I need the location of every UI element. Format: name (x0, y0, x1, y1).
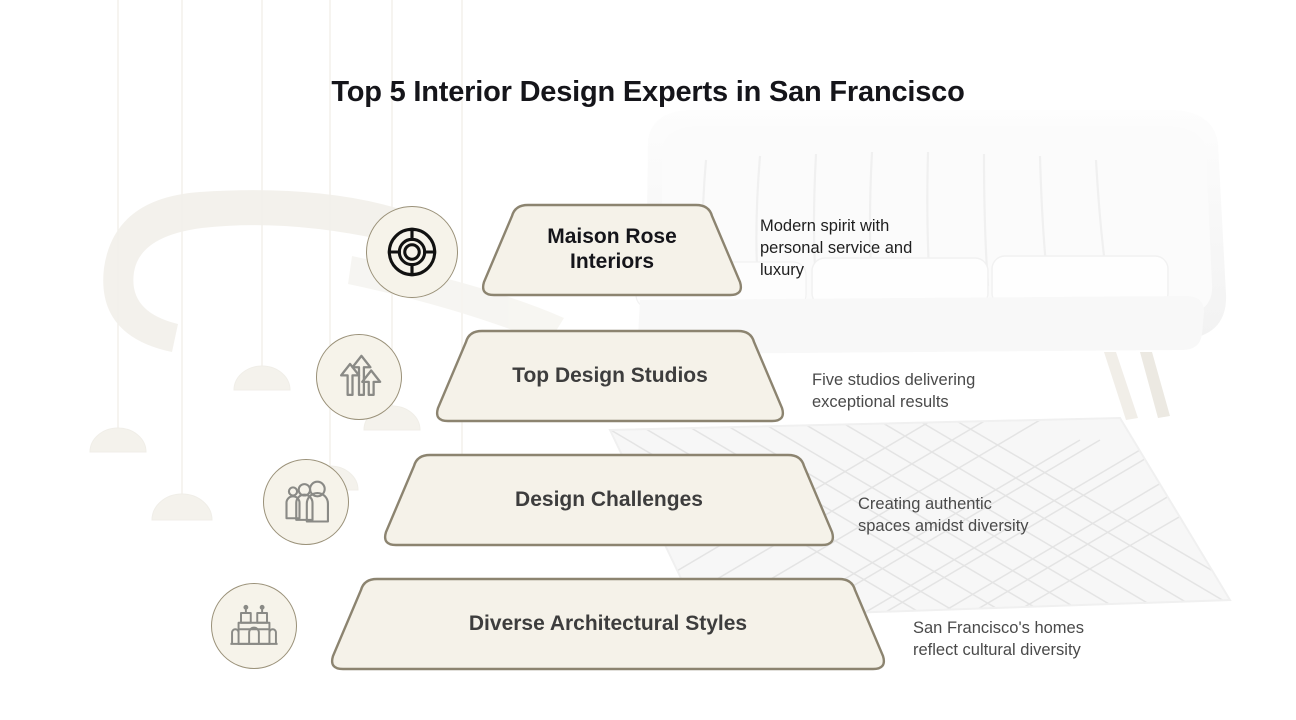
pyramid-level-1-label: Maison Rose Interiors (478, 202, 746, 298)
growth-arrows-icon (333, 351, 385, 403)
wheel-hub-icon (383, 223, 441, 281)
pyramid-level-2-icon-badge[interactable] (316, 334, 402, 420)
pyramid-level-2[interactable]: Top Design Studios (430, 328, 790, 424)
pyramid-level-4-label: Diverse Architectural Styles (325, 576, 891, 672)
pyramid-level-4-description: San Francisco's homes reflect cultural d… (913, 618, 1148, 662)
pyramid-level-1[interactable]: Maison Rose Interiors (478, 202, 746, 298)
people-group-icon (280, 476, 332, 528)
pyramid-level-3-label: Design Challenges (378, 452, 840, 548)
pyramid-level-3-description: Creating authentic spaces amidst diversi… (858, 494, 1093, 538)
pyramid-level-2-description: Five studios delivering exceptional resu… (812, 370, 1027, 414)
pyramid-level-1-description: Modern spirit with personal service and … (760, 216, 975, 281)
pyramid-level-2-label: Top Design Studios (430, 328, 790, 424)
cathedral-building-icon (228, 600, 280, 652)
page-title: Top 5 Interior Design Experts in San Fra… (0, 76, 1296, 109)
pyramid-level-3-icon-badge[interactable] (263, 459, 349, 545)
pyramid-level-1-icon-badge[interactable] (366, 206, 458, 298)
pyramid-level-4[interactable]: Diverse Architectural Styles (325, 576, 891, 672)
pyramid-level-3[interactable]: Design Challenges (378, 452, 840, 548)
pyramid-level-4-icon-badge[interactable] (211, 583, 297, 669)
